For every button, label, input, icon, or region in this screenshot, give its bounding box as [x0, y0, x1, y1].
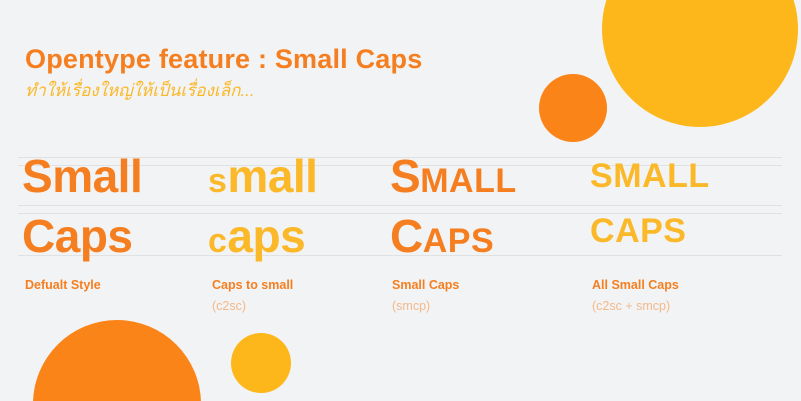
- caption-title-4: All Small Caps: [592, 278, 679, 294]
- specimen-caps-to-small: smallcaps: [208, 152, 317, 272]
- glyph-run-small-caps-2-2: APS: [423, 222, 494, 260]
- glyph-run-all-small-caps-1-2: MALL: [613, 157, 709, 195]
- caption-title-2: Caps to small: [212, 278, 293, 294]
- specimen-caps-to-small-line-1: small: [208, 152, 317, 212]
- glyph-run-all-small-caps-1-1: S: [590, 157, 613, 195]
- caption-1: Defualt Style: [25, 278, 101, 294]
- page-subtitle: ทำให้เรื่องใหญ่ให้เป็นเรื่องเล็ก...: [25, 81, 422, 101]
- glyph-run-caps-to-small-2-2: aps: [227, 210, 305, 262]
- specimen-all-small-caps: SMALLCAPS: [590, 152, 710, 262]
- glyph-run-caps-to-small-1-2: mall: [227, 150, 317, 202]
- specimen-default-style-line-2: Caps: [22, 212, 142, 272]
- specimen-small-caps-line-1: SMALL: [390, 152, 517, 212]
- caption-4: All Small Caps(c2sc + smcp): [592, 278, 679, 314]
- glyph-run-caps-to-small-2-1: c: [208, 222, 227, 260]
- caption-2: Caps to small(c2sc): [212, 278, 293, 314]
- glyph-run-caps-to-small-1-1: s: [208, 162, 227, 200]
- specimen-small-caps: SMALLCAPS: [390, 152, 517, 272]
- caption-code-4: (c2sc + smcp): [592, 299, 679, 315]
- glyph-run-small-caps-1-1: S: [390, 150, 420, 202]
- glyph-run-default-style-1-1: S: [22, 150, 52, 202]
- glyph-run-small-caps-2-1: C: [390, 210, 423, 262]
- glyph-run-default-style-2-2: aps: [55, 210, 133, 262]
- glyph-run-all-small-caps-2-1: C: [590, 212, 615, 250]
- specimen-row: SmallCapssmallcapsSMALLCAPSSMALLCAPS: [0, 152, 801, 262]
- specimen-all-small-caps-line-2: CAPS: [590, 207, 710, 262]
- caption-3: Small Caps(smcp): [392, 278, 459, 314]
- glyph-run-default-style-2-1: C: [22, 210, 55, 262]
- glyph-run-all-small-caps-2-2: APS: [615, 212, 686, 250]
- specimen-default-style-line-1: Small: [22, 152, 142, 212]
- caption-title-3: Small Caps: [392, 278, 459, 294]
- glyph-run-default-style-1-2: mall: [52, 150, 142, 202]
- caption-code-3: (smcp): [392, 299, 459, 315]
- header: Opentype feature : Small Caps ทำให้เรื่อ…: [25, 44, 422, 101]
- poster-canvas: Opentype feature : Small Caps ทำให้เรื่อ…: [0, 0, 801, 401]
- specimen-default-style: SmallCaps: [22, 152, 142, 272]
- specimen-all-small-caps-line-1: SMALL: [590, 152, 710, 207]
- specimen-small-caps-line-2: CAPS: [390, 212, 517, 272]
- page-title: Opentype feature : Small Caps: [25, 44, 422, 75]
- caption-title-1: Defualt Style: [25, 278, 101, 294]
- specimen-caps-to-small-line-2: caps: [208, 212, 317, 272]
- caption-code-2: (c2sc): [212, 299, 293, 315]
- glyph-run-small-caps-1-2: MALL: [420, 162, 516, 200]
